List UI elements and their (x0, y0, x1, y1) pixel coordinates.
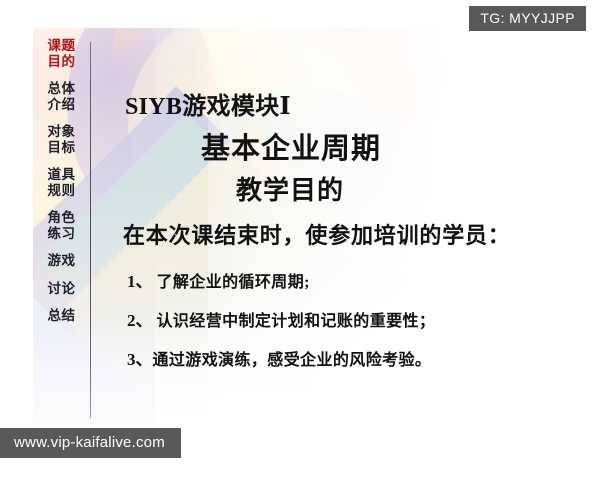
sidebar-item-overview[interactable]: 总体 介绍 (33, 81, 90, 112)
sidebar-item-audience-goal[interactable]: 对象 目标 (33, 124, 90, 155)
goal-number: 3、 (127, 350, 153, 369)
website-watermark-badge: www.vip-kaifalive.com (0, 428, 181, 458)
sidebar-item-label-line2: 介绍 (33, 97, 90, 113)
sidebar-item-props-rules[interactable]: 道具 规则 (33, 167, 90, 198)
sidebar-item-summary[interactable]: 总结 (33, 308, 90, 324)
sidebar-item-label-line2: 目标 (33, 140, 90, 156)
sidebar-item-label-line1: 游戏 (33, 253, 90, 269)
sidebar-item-topic-purpose[interactable]: 课题 目的 (33, 38, 90, 69)
sidebar-item-discussion[interactable]: 讨论 (33, 281, 90, 297)
goal-text: 通过游戏演练，感受企业的风险考验。 (153, 352, 432, 369)
sidebar-divider-rule (90, 42, 91, 418)
slide-title-line2: 基本企业周期 (201, 125, 381, 167)
telegram-watermark-badge: TG: MYYJJPP (469, 6, 586, 31)
sidebar-item-label-line1: 道具 (33, 167, 90, 183)
goal-text: 认识经营中制定计划和记账的重要性； (157, 313, 436, 330)
sidebar-item-label-line1: 对象 (33, 124, 90, 140)
sidebar-item-game[interactable]: 游戏 (33, 253, 90, 269)
goal-item: 3、通过游戏演练，感受企业的风险考验。 (127, 345, 431, 370)
sidebar-item-label-line2: 练习 (33, 226, 90, 242)
sidebar-item-label-line2: 规则 (33, 183, 90, 199)
goal-item: 2、认识经营中制定计划和记账的重要性； (127, 306, 435, 331)
sidebar-item-label-line1: 讨论 (33, 281, 90, 297)
goal-text: 了解企业的循环周期; (157, 274, 310, 291)
sidebar-item-label-line1: 角色 (33, 210, 90, 226)
slide-title-line1: SIYB游戏模块Ⅰ (125, 86, 291, 121)
presentation-slide: 课题 目的 总体 介绍 对象 目标 道具 规则 角色 练习 游戏 (33, 28, 585, 432)
sidebar-item-role-practice[interactable]: 角色 练习 (33, 210, 90, 241)
slide-content-area: SIYB游戏模块Ⅰ 基本企业周期 教学目的 在本次课结束时，使参加培训的学员： … (103, 28, 585, 432)
sidebar-item-label-line2: 目的 (33, 54, 90, 70)
slide-sidebar-nav: 课题 目的 总体 介绍 对象 目标 道具 规则 角色 练习 游戏 (33, 28, 90, 432)
slide-lead-in-text: 在本次课结束时，使参加培训的学员： (123, 218, 511, 250)
goal-number: 2、 (127, 311, 153, 330)
sidebar-item-label-line1: 总结 (33, 308, 90, 324)
goal-number: 1、 (127, 272, 153, 291)
sidebar-item-label-line1: 总体 (33, 81, 90, 97)
sidebar-item-label-line1: 课题 (33, 38, 90, 54)
goal-item: 1、了解企业的循环周期; (127, 267, 310, 292)
slide-screenshot: 课题 目的 总体 介绍 对象 目标 道具 规则 角色 练习 游戏 (0, 0, 600, 480)
slide-title-line3: 教学目的 (236, 170, 344, 207)
